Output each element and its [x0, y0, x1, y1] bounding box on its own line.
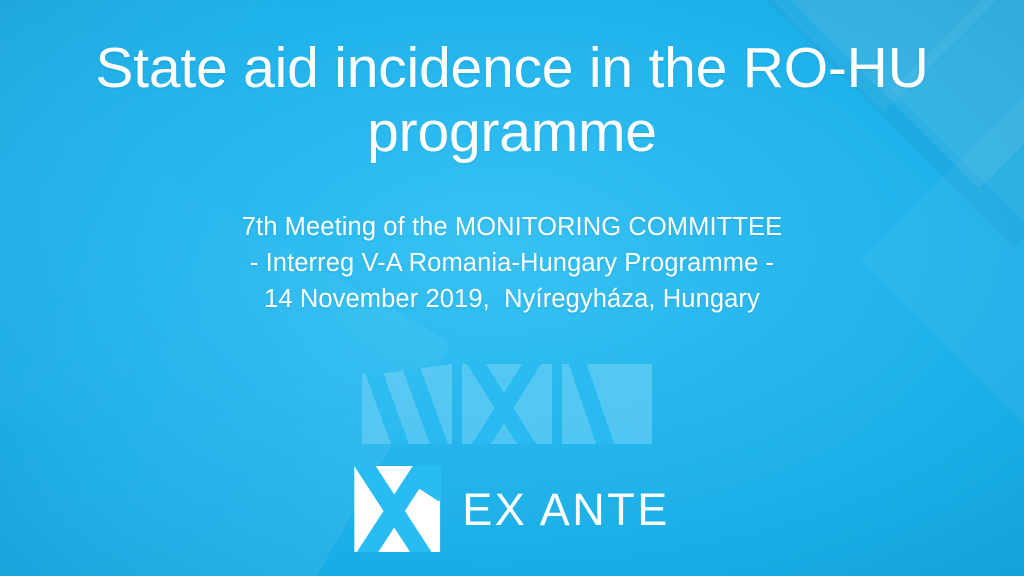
ex-ante-watermark: [362, 364, 662, 444]
watermark-glyph-x-icon: [462, 364, 552, 444]
subtitle-line-2: - Interreg V-A Romania-Hungary Programme…: [242, 245, 782, 281]
subtitle-line-3: 14 November 2019, Nyíregyháza, Hungary: [242, 281, 782, 317]
ex-ante-x-mark-icon: [354, 466, 440, 552]
slide-title: State aid incidence in the RO-HU program…: [82, 36, 942, 165]
ex-ante-logo: EX ANTE: [354, 466, 670, 552]
watermark-glyph-3-icon: [562, 364, 652, 444]
presentation-slide: State aid incidence in the RO-HU program…: [0, 0, 1024, 576]
subtitle-line-1: 7th Meeting of the MONITORING COMMITTEE: [242, 209, 782, 245]
watermark-glyph-1-icon: [362, 364, 452, 444]
ex-ante-logo-text: EX ANTE: [462, 487, 670, 532]
slide-subtitle: 7th Meeting of the MONITORING COMMITTEE …: [242, 209, 782, 318]
